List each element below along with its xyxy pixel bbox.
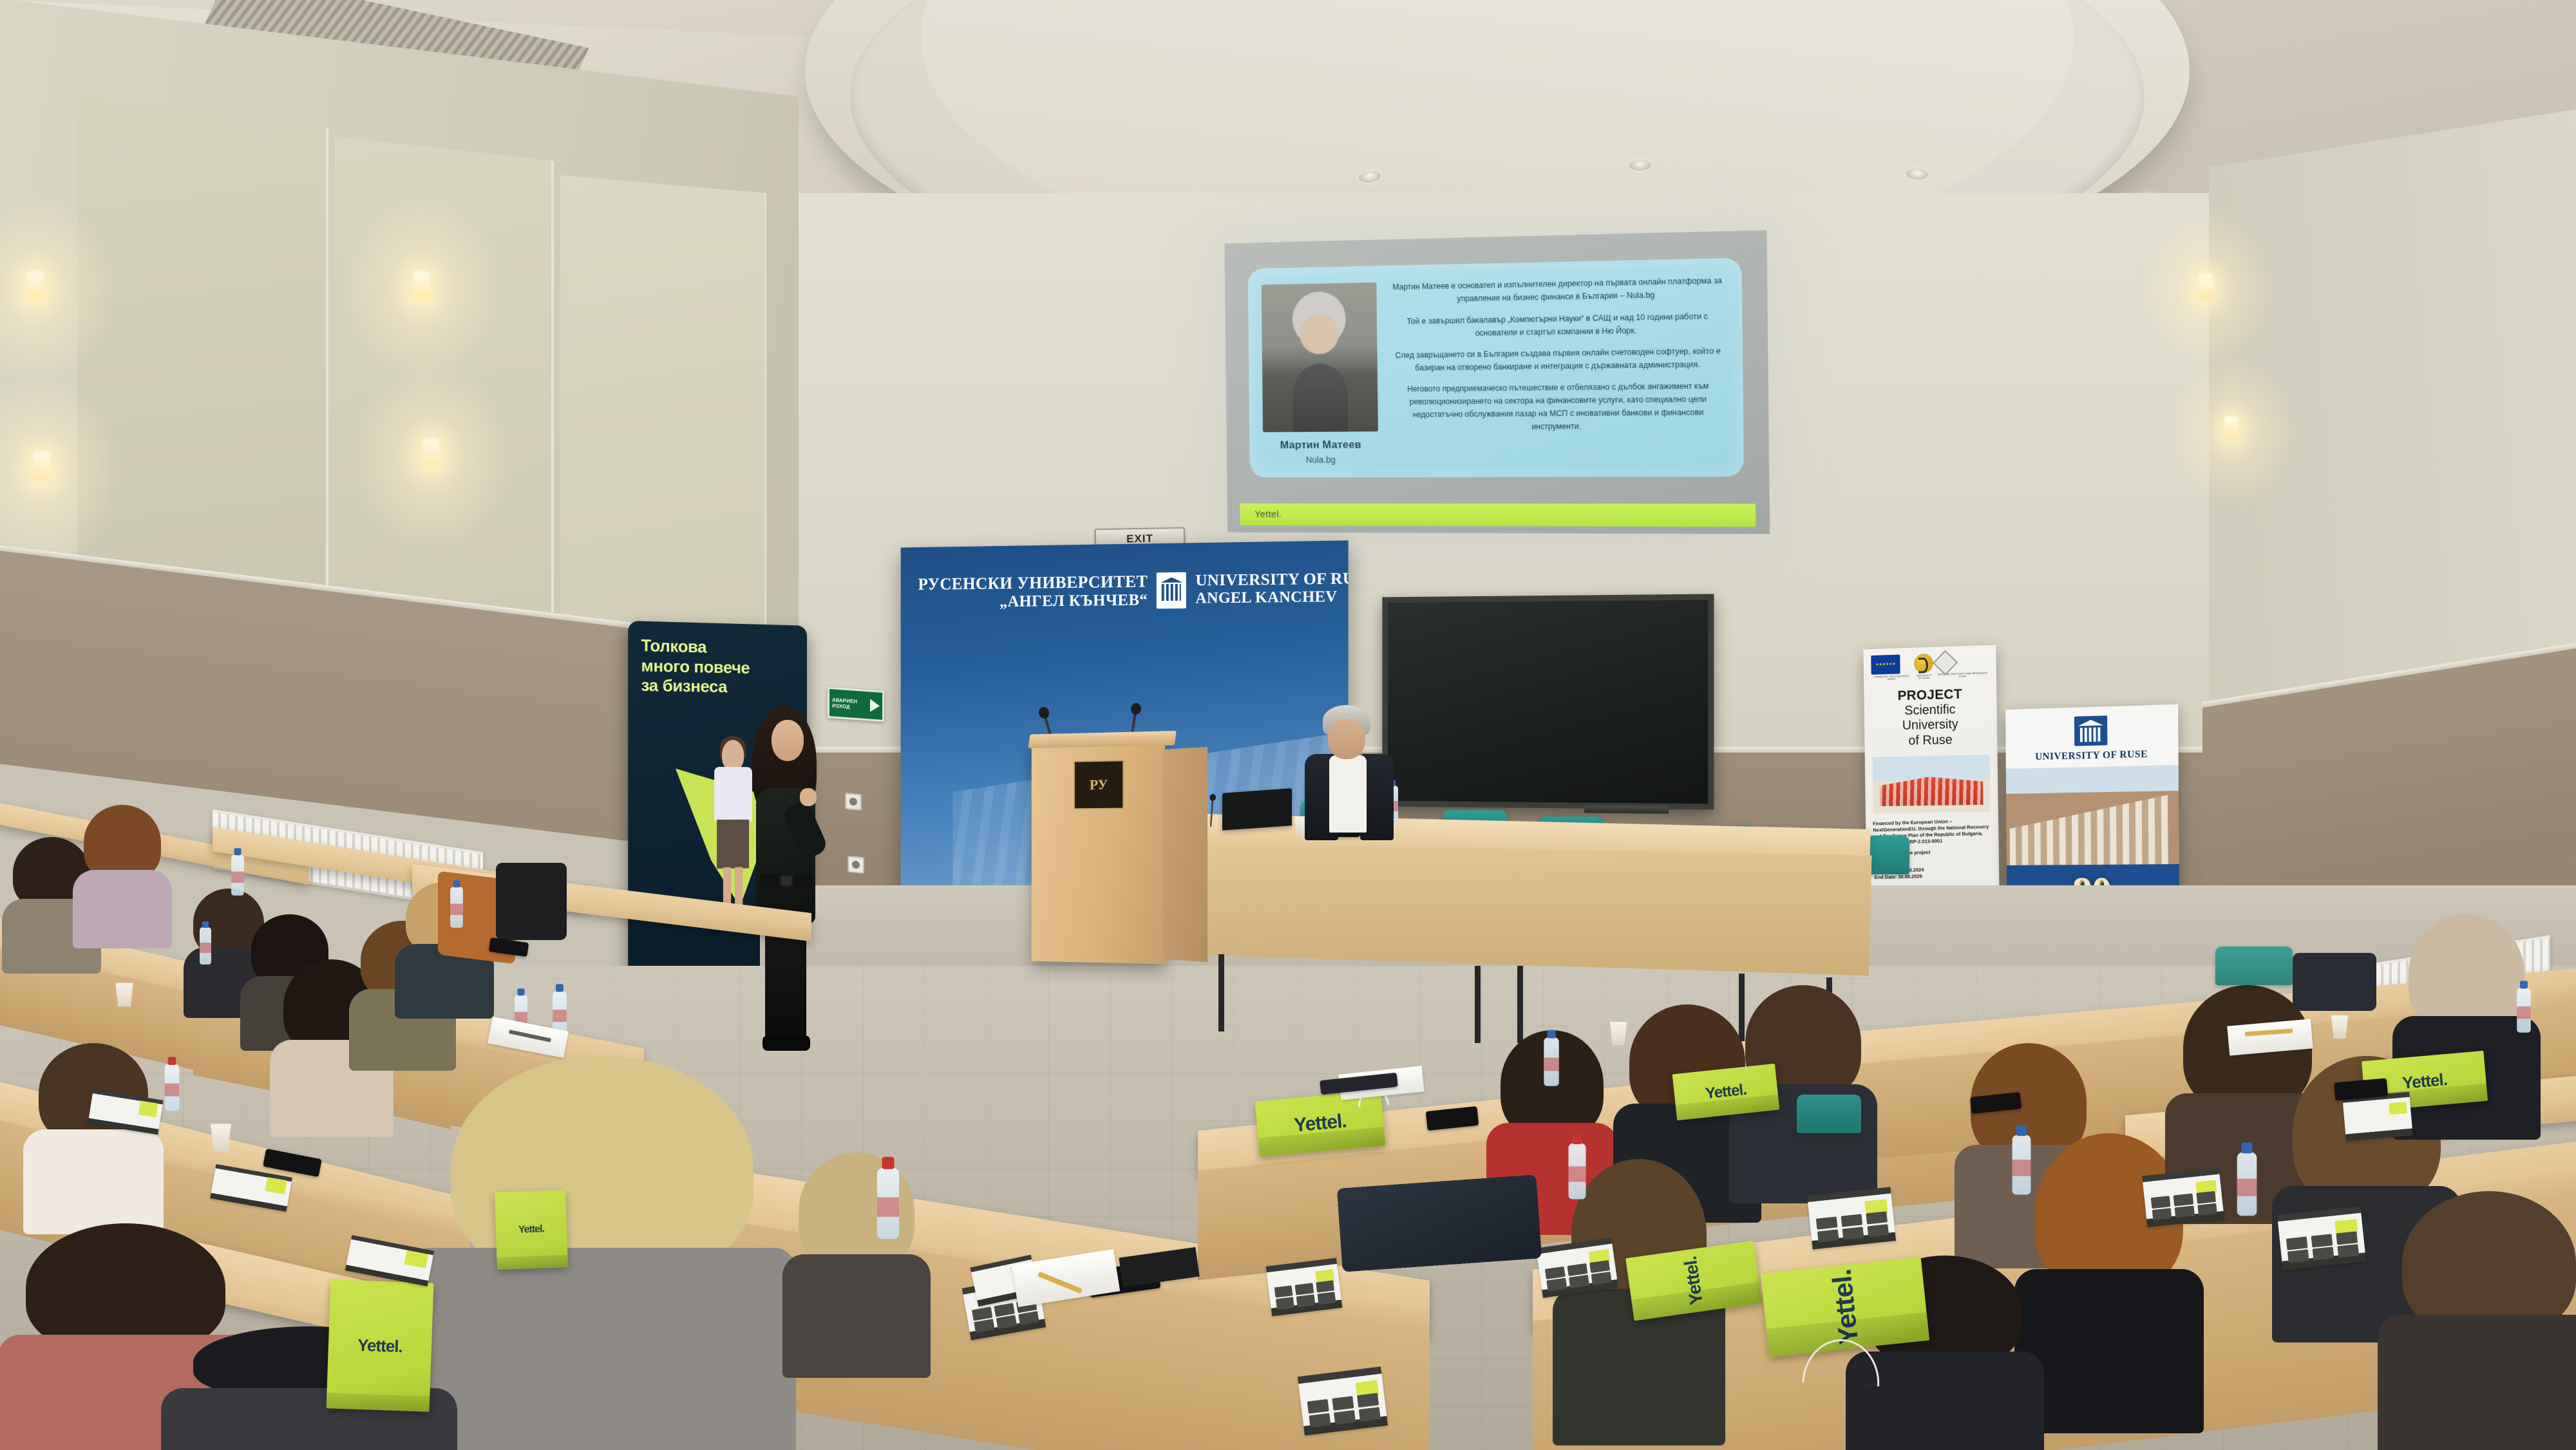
slide-paragraph: След завръщането си в България създава п… <box>1391 344 1725 375</box>
eu-caption: FUNDED BY THE EUROPEAN UNION <box>1871 675 1911 682</box>
promo-flyer[interactable] <box>1536 1238 1618 1298</box>
water-bottle <box>1544 1037 1558 1086</box>
water-bottle <box>1569 1144 1586 1200</box>
wall-sconce-light <box>2137 208 2275 372</box>
power-socket-icon <box>848 856 864 874</box>
eu-flag-icon <box>1871 655 1900 675</box>
slide-speaker-name: Мартин Матеев <box>1263 438 1378 452</box>
water-bottle <box>450 887 463 928</box>
audience-person <box>39 1043 148 1223</box>
speaker-face <box>1328 719 1365 759</box>
rollup-headline-line2: много повече <box>641 655 795 679</box>
projection-screen: Мартин Матеев Nula.bg Мартин Матеев е ос… <box>1225 230 1770 534</box>
water-bottle <box>2012 1135 2031 1195</box>
presenter-standing <box>746 706 823 1057</box>
lecture-hall-photo: Мартин Матеев Nula.bg Мартин Матеев е ос… <box>0 0 2576 1450</box>
water-bottle <box>2237 1153 2257 1216</box>
slide-footer-bar: Yettel. <box>1240 504 1756 527</box>
project-title-line4: of Ruse <box>1872 731 1989 749</box>
wall-sconce-light <box>0 373 122 567</box>
wall-sconce-light <box>351 361 512 554</box>
water-bottle <box>877 1168 899 1239</box>
audience-person <box>2402 1191 2576 1449</box>
promo-flyer[interactable] <box>2277 1206 2366 1270</box>
yettel-gift-bag[interactable]: Yettel. <box>495 1190 568 1270</box>
wall-sconce-light <box>0 193 116 386</box>
water-bottle <box>2517 988 2531 1033</box>
wall-sconce-light <box>341 193 502 386</box>
rollup-headline-line1: Толкова <box>641 636 795 659</box>
presenter-belt-buckle <box>779 874 793 887</box>
university-of-ruse-mark-icon <box>1914 654 1933 673</box>
presenter-shoes <box>762 1035 810 1051</box>
handbag <box>496 863 567 940</box>
ru-caption-line2: OF RUSE <box>1918 676 1930 680</box>
uni-board-en-line2: ANGEL KANCHEV <box>1195 588 1348 608</box>
power-socket-icon <box>845 793 862 811</box>
wall-display-screen <box>1382 594 1714 809</box>
water-bottle <box>200 927 211 965</box>
yettel-gift-bag[interactable]: Yettel. <box>327 1279 434 1411</box>
backpack-on-desk <box>1337 1174 1542 1272</box>
slide-footer-brand: Yettel. <box>1255 509 1282 520</box>
slide-paragraph: Мартин Матеев е основател и изпълнителен… <box>1390 274 1725 306</box>
promo-flyer[interactable] <box>1266 1258 1343 1317</box>
lectern-podium: РУ <box>1032 739 1165 965</box>
university-emblem: РУ <box>1074 760 1124 809</box>
water-bottle <box>231 854 244 896</box>
presenter-face <box>772 720 804 761</box>
audience-person <box>84 805 161 940</box>
university-temple-logo-icon <box>2074 715 2108 746</box>
slide-speaker-org: Nula.bg <box>1264 455 1379 465</box>
table-leg <box>1218 954 1224 1031</box>
water-bottle <box>165 1064 180 1111</box>
uni-board-bg-line2: „АНГЕЛ КЪНЧЕВ“ <box>918 591 1148 612</box>
project-building-illustration <box>1872 755 1990 813</box>
promo-flyer[interactable] <box>2142 1168 2224 1227</box>
anniversary-university-name: UNIVERSITY OF RUSE <box>2006 748 2179 764</box>
promo-flyer[interactable] <box>1298 1366 1388 1435</box>
laptop[interactable] <box>1222 788 1292 831</box>
university-temple-logo-icon <box>1157 572 1186 608</box>
emergency-exit-sign: АВАРИЕН ИЗХОД <box>828 687 884 722</box>
chair[interactable] <box>2215 946 2293 985</box>
arrow-right-icon <box>870 699 880 713</box>
presenter-hand <box>800 788 817 806</box>
yettel-bag-label: Yettel. <box>357 1335 403 1356</box>
presentation-slide: Мартин Матеев Nula.bg Мартин Матеев е ос… <box>1248 258 1744 478</box>
uni-board-en-line1: UNIVERSITY OF RUSE <box>1195 570 1348 590</box>
chair[interactable] <box>1797 1095 1861 1133</box>
rollup-headline-line3: за бизнеса <box>641 675 795 698</box>
wall-sconce-light <box>2167 354 2296 509</box>
speaker-shirt <box>1329 755 1367 833</box>
bag <box>2293 953 2376 1011</box>
promo-flyer[interactable] <box>1807 1187 1896 1249</box>
slide-paragraph: Неговото предприемаческо пътешествие е о… <box>1392 379 1726 434</box>
university-building-photo <box>2006 765 2179 865</box>
lectern-side <box>1163 747 1207 962</box>
uni-board-bg-line1: РУСЕНСКИ УНИВЕРСИТЕТ <box>918 572 1148 594</box>
slide-paragraph: Той е завършил бакалавър „Компютърни Нау… <box>1391 309 1725 341</box>
table-leg <box>1475 966 1481 1043</box>
seated-speaker <box>1301 705 1397 853</box>
yettel-bag-label: Yettel. <box>518 1223 545 1236</box>
speaker-portrait-photo <box>1262 283 1378 432</box>
